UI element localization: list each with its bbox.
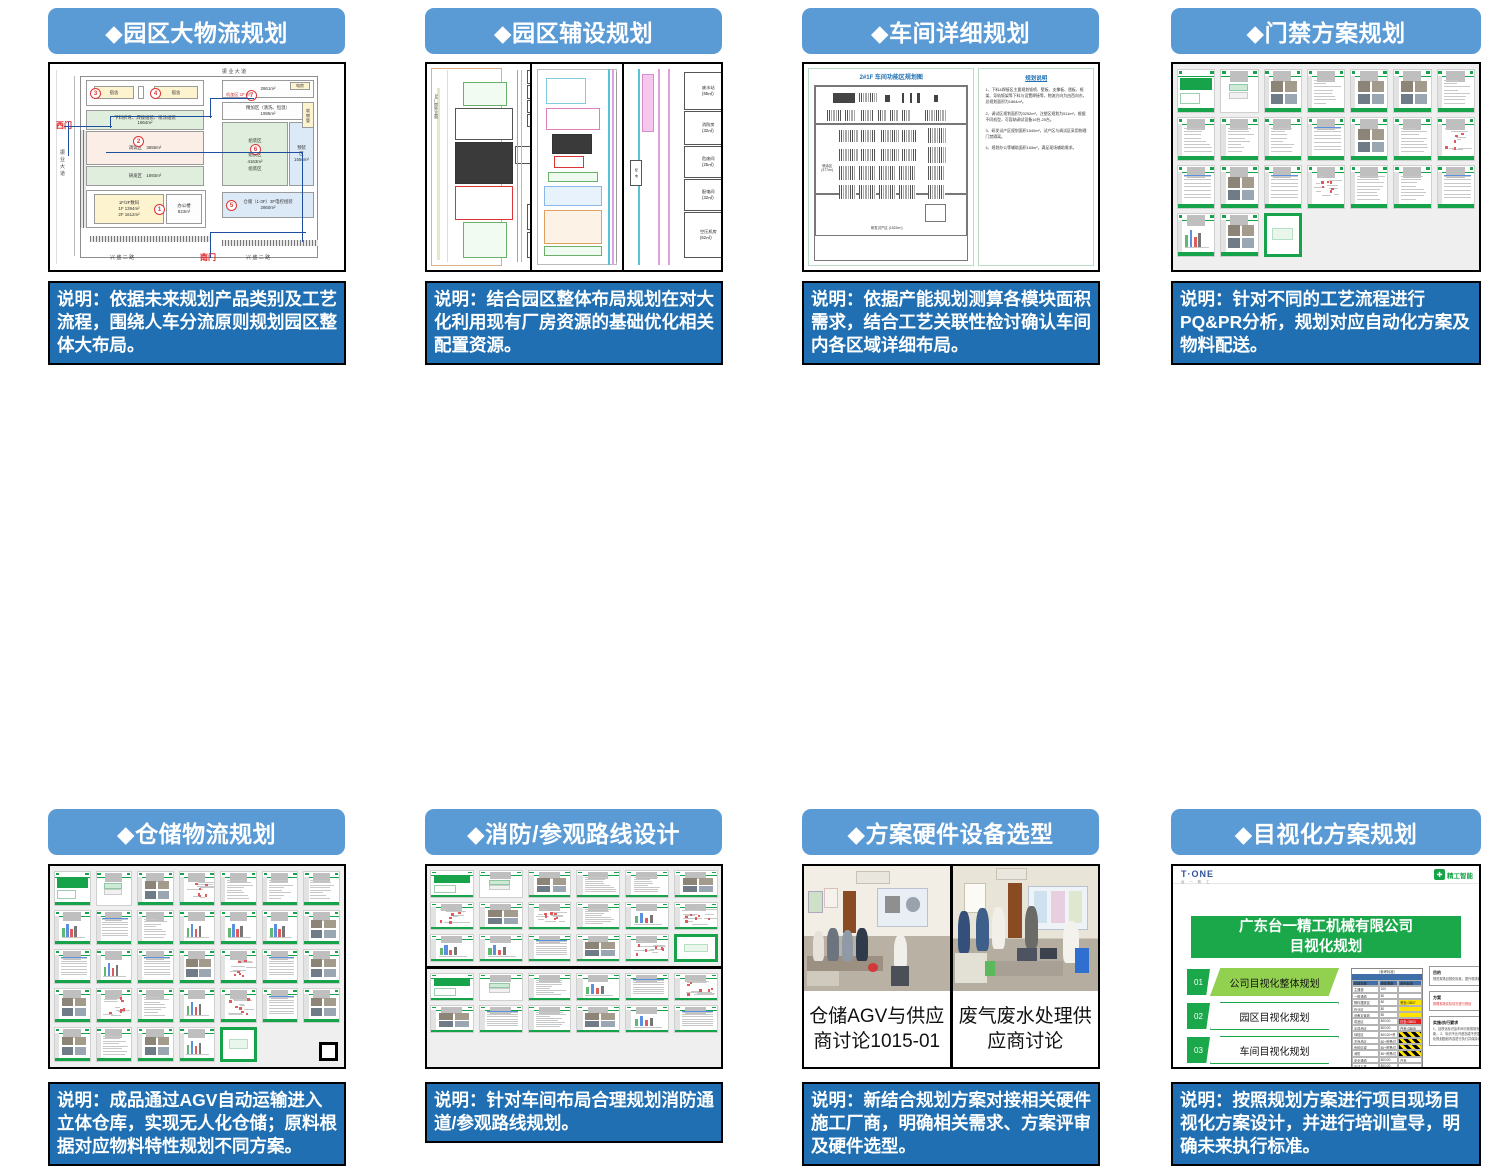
slide-thumbnail[interactable]: 6 — [1393, 69, 1431, 113]
slide-thumbnail[interactable]: 13 — [1393, 117, 1431, 161]
slide-thumbnail[interactable]: 15 — [528, 934, 572, 962]
slide-thumbnail[interactable]: 12 — [674, 902, 718, 930]
image-fire-route-sorter[interactable]: 123456789101112131415161718 123456789101… — [425, 864, 723, 1069]
vm-panel-1: 目的 规范现场目视化标准，提升现场管理水平。 — [1429, 966, 1481, 986]
note-label: 说明： — [57, 289, 110, 309]
slide-thumbnail[interactable]: 14 — [1437, 117, 1475, 161]
card-warehouse-logistics: ◆仓储物流规划 12345678910111213141516171819202… — [0, 396, 377, 786]
slide-thumbnail[interactable]: 21 — [303, 949, 340, 984]
slide-thumbnail[interactable]: 13 — [430, 934, 474, 962]
vm-title-band: 广东台一精工机械有限公司 目视化规划 — [1191, 916, 1461, 958]
image-workshop-layout[interactable]: 2#1F 车间功能区规划图 — [802, 62, 1100, 272]
slide-thumbnail[interactable]: 3 — [137, 871, 174, 906]
note-label: 说明： — [434, 289, 487, 309]
slide-thumbnail[interactable]: 2 — [1220, 69, 1258, 113]
slide-thumbnail[interactable]: 14 — [479, 934, 523, 962]
workshop-para-3: 3、研发试产区规划面积1540m²，试产区与调试区采用物理门禁隔离。 — [985, 128, 1087, 140]
slide-thumbnail[interactable]: 16 — [1220, 165, 1258, 209]
selection-marker — [319, 1042, 338, 1061]
slide-thumbnail[interactable]: 17 — [137, 949, 174, 984]
note-label: 说明： — [811, 289, 864, 309]
slide-thumbnail[interactable]: 10 — [1264, 117, 1302, 161]
slide-thumbnail[interactable]: 2 — [96, 871, 133, 906]
slide-thumbnail[interactable]: 4 — [1307, 69, 1345, 113]
card-access-control: ◆门禁方案规划 12345678910111213141516171819202… — [1131, 0, 1508, 396]
card-title-park-auxiliary: ◆园区辅设规划 — [425, 8, 722, 54]
slide-thumbnail[interactable]: 5 — [625, 973, 669, 1001]
slide-thumbnail[interactable]: 8 — [479, 902, 523, 930]
slide-thumbnail[interactable]: 4 — [576, 973, 620, 1001]
card-title-access-control: ◆门禁方案规划 — [1171, 8, 1481, 54]
slide-thumbnail[interactable]: 11 — [625, 1005, 669, 1033]
note-access-control: 说明：针对不同的工艺流程进行PQ&PR分析，规划对应自动化方案及物料配送。 — [1171, 281, 1481, 365]
table-row: 清洁工具80/100 — [1352, 1063, 1422, 1069]
slide-thumbnail[interactable]: 1 — [430, 870, 474, 898]
image-park-logistics-cad[interactable]: 振 业 大 道 振业大道 宿舍 3 宿舍 4 下料折弯、焊接组装、喷涂组装186… — [48, 62, 346, 272]
slide-thumbnail[interactable]: 29 — [54, 1027, 91, 1062]
slide-thumbnail[interactable]: 28 — [303, 988, 340, 1023]
image-visual-management-slide[interactable]: T·ONE 台 一 精 工 ✚ 精工智能 广东台一精工机械有限公司 目视化规划 … — [1171, 864, 1481, 1069]
slide-thumbnail[interactable]: 18 — [674, 934, 718, 962]
slide-thumbnail[interactable]: 23 — [1220, 213, 1258, 257]
slide-thumbnail[interactable]: 9 — [96, 910, 133, 945]
slide-thumbnail[interactable]: 8 — [54, 910, 91, 945]
note-label: 说明： — [1180, 289, 1233, 309]
slide-thumbnail[interactable]: 7 — [303, 871, 340, 906]
photo-card-agv: 仓储AGV与供应商讨论1015-01 — [804, 866, 953, 1067]
slide-thumbnail[interactable]: 10 — [576, 902, 620, 930]
image-park-auxiliary-cad[interactable]: 2#厂房外立面 废水处理设备区(208㎡) 冷冻机房(36㎡) 冷却塔位(24㎡… — [425, 62, 723, 272]
slide-thumbnail[interactable]: 23 — [96, 988, 133, 1023]
slide-thumbnail[interactable]: 19 — [1350, 165, 1388, 209]
slide-thumbnail[interactable]: 9 — [528, 1005, 572, 1033]
slide-thumbnail[interactable]: 9 — [1220, 117, 1258, 161]
slide-thumbnail[interactable]: 18 — [179, 949, 216, 984]
slide-thumbnail[interactable]: 10 — [137, 910, 174, 945]
slide-thumbnail[interactable]: 2 — [479, 870, 523, 898]
slide-thumbnail[interactable]: 8 — [1177, 117, 1215, 161]
slide-thumbnail[interactable]: 3 — [528, 870, 572, 898]
brand-jinggong: ✚ 精工智能 — [1434, 869, 1473, 880]
gate-west-label: 西门 — [56, 120, 72, 131]
slide-thumbnail[interactable]: 3 — [1264, 69, 1302, 113]
note-fire-visit-route: 说明：针对车间布局合理规划消防通道/参观路线规划。 — [425, 1082, 723, 1143]
slide-thumbnail[interactable]: 22 — [54, 988, 91, 1023]
slide-thumbnail[interactable]: 16 — [96, 949, 133, 984]
photo-card-waste: 废气废水处理供应商讨论 — [953, 866, 1099, 1067]
slide-thumbnail[interactable]: 26 — [220, 988, 257, 1023]
slide-thumbnail[interactable]: 6 — [674, 973, 718, 1001]
workshop-para-1: 1、下料&焊接区主要规划钣喷、壁板、支撑板、透板、框架、导轨钣架等下料与设置焊接… — [985, 87, 1087, 106]
slide-thumbnail[interactable]: 19 — [220, 949, 257, 984]
slide-thumbnail[interactable]: 21 — [1437, 165, 1475, 209]
slide-thumbnail[interactable]: 1 — [54, 871, 91, 906]
card-fire-visit-route: ◆消防/参观路线设计 123456789101112131415161718 1… — [377, 396, 754, 786]
slide-thumbnail[interactable]: 31 — [137, 1027, 174, 1062]
slide-thumbnail[interactable]: 4 — [179, 871, 216, 906]
vm-company: 广东台一精工机械有限公司 — [1239, 917, 1413, 937]
slide-thumbnail[interactable]: 17 — [1264, 165, 1302, 209]
image-hardware-photos[interactable]: 仓储AGV与供应商讨论1015-01 — [802, 864, 1100, 1069]
slide-thumbnail[interactable]: 9 — [528, 902, 572, 930]
note-park-logistics: 说明：依据未来规划产品类别及工艺流程，围绕人车分流原则规划园区整体大布局。 — [48, 281, 346, 365]
image-warehouse-sorter[interactable]: 1234567891011121314151617181920212223242… — [48, 864, 346, 1069]
workshop-drawing-title: 2#1F 车间功能区规划图 — [809, 72, 973, 81]
brand-mark-icon: ✚ — [1434, 869, 1445, 880]
slide-thumbnail[interactable]: 18 — [1307, 165, 1345, 209]
note-label: 说明： — [434, 1090, 487, 1110]
slide-thumbnail[interactable]: 32 — [179, 1027, 216, 1062]
vm-panel-3: 实施/执行要求 1、目视化标识由车间行政现场负责人维护、完善更新。 2、标识不允… — [1429, 1016, 1481, 1046]
workshop-panel-title: 规划说明 — [985, 74, 1087, 82]
slide-thumbnail[interactable]: 11 — [179, 910, 216, 945]
photo-waste-meeting — [953, 866, 1099, 991]
slide-thumbnail[interactable]: 5 — [1350, 69, 1388, 113]
slide-thumbnail[interactable]: 12 — [220, 910, 257, 945]
slide-thumbnail[interactable]: 24 — [1264, 213, 1302, 257]
slide-thumbnail[interactable]: 20 — [1393, 165, 1431, 209]
card-title-visual-management: ◆目视化方案规划 — [1171, 809, 1481, 855]
slide-thumbnail[interactable]: 1 — [430, 973, 474, 1001]
vm-steps: 01 公司目视化整体规划 02 园区目视化规划 03 车间目视化规划 — [1187, 969, 1339, 1069]
slide-thumbnail[interactable]: 4 — [576, 870, 620, 898]
workshop-sublabel-rnd: 研发试产区 (1522m²) — [864, 225, 910, 230]
photo-caption-waste: 废气废水处理供应商讨论 — [953, 991, 1099, 1067]
workshop-para-2: 2、调试区规划面积为3252m²，注塑区规划为511m²，根据不同机型，可容纳调… — [985, 111, 1087, 123]
planning-overview-board: ◆园区大物流规划 振 业 大 道 振业大道 宿舍 3 宿舍 4 下料折弯、焊接组… — [0, 0, 1509, 786]
workshop-para-4: 4、规划办公等辅助面积183m²，满足现场辅助需求。 — [985, 145, 1087, 151]
slide-thumbnail[interactable]: 20 — [262, 949, 299, 984]
card-title-park-logistics: ◆园区大物流规划 — [48, 8, 345, 54]
card-title-fire-visit-route: ◆消防/参观路线设计 — [425, 809, 722, 855]
slide-thumbnail[interactable]: 15 — [1177, 165, 1215, 209]
card-title-warehouse-logistics: ◆仓储物流规划 — [48, 809, 345, 855]
note-label: 说明： — [1180, 1090, 1233, 1110]
photo-agv-meeting — [804, 866, 950, 991]
slide-thumbnail[interactable]: 5 — [625, 870, 669, 898]
note-workshop-detail: 说明：依据产能规划测算各模块面积需求，结合工艺关联性检讨确认车间内各区域详细布局… — [802, 281, 1100, 365]
slide-thumbnail[interactable]: 1 — [1177, 69, 1215, 113]
slide-thumbnail[interactable]: 30 — [96, 1027, 133, 1062]
slide-thumbnail[interactable]: 12 — [674, 1005, 718, 1033]
note-visual-management: 说明：按照规划方案进行项目现场目视化方案设计，并进行培训宣导，明确未来执行标准。 — [1171, 1082, 1481, 1166]
slide-thumbnail[interactable]: 8 — [479, 1005, 523, 1033]
slide-thumbnail[interactable]: 5 — [220, 871, 257, 906]
slide-thumbnail[interactable]: 15 — [54, 949, 91, 984]
vm-standard-table: （参考标准） 区域名称线条宽度颜色标准主通道100一般通道80物料摆放区80黄色… — [1351, 968, 1423, 1069]
slide-thumbnail[interactable]: 11 — [1307, 117, 1345, 161]
card-visual-management: ◆目视化方案规划 T·ONE 台 一 精 工 ✚ 精工智能 广东台一精工机械有限… — [1131, 396, 1508, 786]
card-park-auxiliary: ◆园区辅设规划 2#厂房外立面 废水处理设备区(208㎡) 冷冻机房(36㎡) … — [377, 0, 754, 396]
slide-thumbnail[interactable]: 33 — [220, 1027, 257, 1062]
slide-thumbnail[interactable]: 22 — [1177, 213, 1215, 257]
vm-subtitle: 目视化规划 — [1290, 937, 1363, 957]
vm-step-2[interactable]: 02 园区目视化规划 — [1187, 1003, 1339, 1029]
workshop-sublabel-paint: 喷涂区 (377m²) — [818, 163, 836, 172]
card-title-hardware-selection: ◆方案硬件设备选型 — [802, 809, 1099, 855]
card-park-logistics: ◆园区大物流规划 振 业 大 道 振业大道 宿舍 3 宿舍 4 下料折弯、焊接组… — [0, 0, 377, 396]
brand-tone: T·ONE 台 一 精 工 — [1181, 869, 1214, 884]
gate-south-label: 南门 — [200, 252, 216, 263]
note-park-auxiliary: 说明：结合园区整体布局规划在对大化利用现有厂房资源的基础优化相关配置资源。 — [425, 281, 723, 365]
vm-side-panels: 目的 规范现场目视化标准，提升现场管理水平。 方案 按照现场实际情况进行规划 实… — [1429, 966, 1481, 1051]
slide-thumbnail[interactable]: 24 — [137, 988, 174, 1023]
slide-thumbnail[interactable]: 12 — [1350, 117, 1388, 161]
slide-thumbnail[interactable]: 25 — [179, 988, 216, 1023]
card-title-workshop-detail: ◆车间详细规划 — [802, 8, 1099, 54]
slide-thumbnail[interactable]: 6 — [674, 870, 718, 898]
vm-step-3[interactable]: 03 车间目视化规划 — [1187, 1037, 1339, 1063]
slide-thumbnail[interactable]: 10 — [576, 1005, 620, 1033]
slide-thumbnail[interactable]: 6 — [262, 871, 299, 906]
vm-step-1[interactable]: 01 公司目视化整体规划 — [1187, 969, 1339, 995]
note-hardware-selection: 说明：新结合规划方案对接相关硬件施工厂商，明确相关需求、方案评审及硬件选型。 — [802, 1082, 1100, 1166]
note-label: 说明： — [57, 1090, 110, 1110]
slide-thumbnail[interactable]: 17 — [625, 934, 669, 962]
slide-thumbnail[interactable]: 2 — [479, 973, 523, 1001]
slide-thumbnail[interactable]: 13 — [262, 910, 299, 945]
image-access-control-sorter[interactable]: 123456789101112131415161718192021222324 — [1171, 62, 1481, 272]
photo-caption-agv: 仓储AGV与供应商讨论1015-01 — [804, 991, 950, 1067]
slide-thumbnail[interactable]: 27 — [262, 988, 299, 1023]
slide-thumbnail[interactable]: 14 — [303, 910, 340, 945]
slide-thumbnail[interactable]: 11 — [625, 902, 669, 930]
note-label: 说明： — [811, 1090, 864, 1110]
note-warehouse-logistics: 说明：成品通过AGV自动运输进入立体仓库，实现无人化仓储；原料根据对应物料特性规… — [48, 1082, 346, 1166]
card-hardware-selection: ◆方案硬件设备选型 — [754, 396, 1131, 786]
slide-thumbnail[interactable]: 7 — [1437, 69, 1475, 113]
card-workshop-detail: ◆车间详细规划 2#1F 车间功能区规划图 — [754, 0, 1131, 396]
slide-thumbnail[interactable]: 3 — [528, 973, 572, 1001]
slide-thumbnail[interactable]: 7 — [430, 902, 474, 930]
vm-panel-2: 方案 按照现场实际情况进行规划 — [1429, 991, 1481, 1011]
slide-thumbnail[interactable]: 16 — [576, 934, 620, 962]
slide-thumbnail[interactable]: 7 — [430, 1005, 474, 1033]
